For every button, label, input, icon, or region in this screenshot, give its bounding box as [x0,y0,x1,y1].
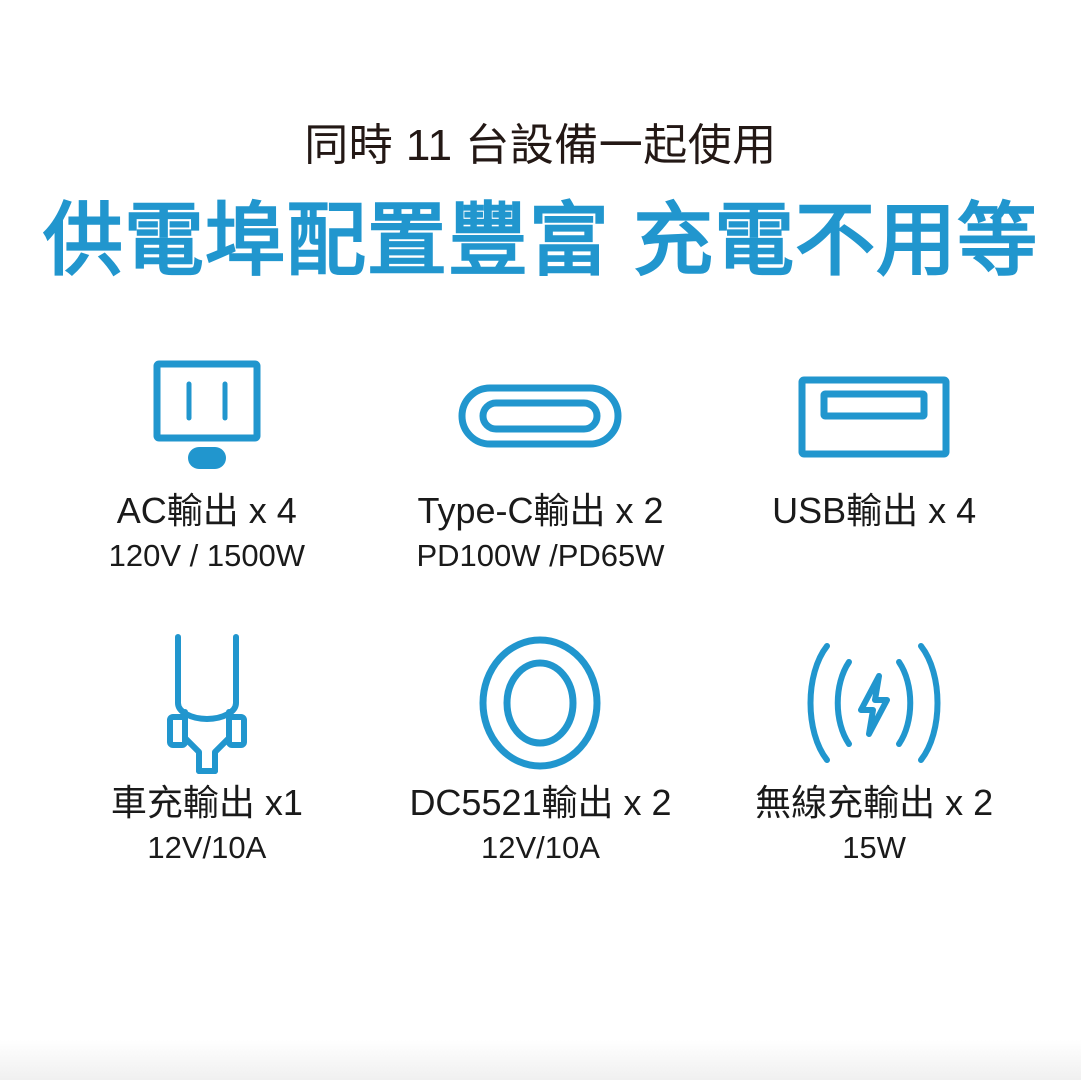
port-card-usb: USB輸出 x 4 [707,352,1041,628]
bottom-gradient-divider [0,1040,1081,1080]
usb-a-icon [794,352,954,480]
ac-outlet-icon [141,352,273,480]
car-charger-icon [147,628,267,778]
port-card-dc5521: DC5521輸出 x 2 12V/10A [374,628,708,904]
port-grid: AC輸出 x 4 120V / 1500W Type-C輸出 x 2 PD100… [40,352,1041,904]
port-card-ac: AC輸出 x 4 120V / 1500W [40,352,374,628]
port-spec: PD100W /PD65W [416,537,664,574]
port-card-wireless: 無線充輸出 x 2 15W [707,628,1041,904]
port-spec: 120V / 1500W [109,537,305,574]
dc5521-barrel-icon [475,628,605,778]
port-card-typec: Type-C輸出 x 2 PD100W /PD65W [374,352,708,628]
port-title: USB輸出 x 4 [772,490,976,532]
port-configuration-infographic: 同時 11 台設備一起使用 供電埠配置豐富 充電不用等 AC輸出 x 4 120… [0,0,1081,1080]
subtitle-text: 同時 11 台設備一起使用 [0,118,1081,173]
port-title: 車充輸出 x1 [111,782,303,824]
port-card-car: 車充輸出 x1 12V/10A [40,628,374,904]
port-spec: 12V/10A [147,829,266,866]
wireless-charging-icon [799,628,949,778]
port-spec: 12V/10A [481,829,600,866]
usb-type-c-icon [456,352,624,480]
headline-text: 供電埠配置豐富 充電不用等 [0,192,1081,290]
port-title: AC輸出 x 4 [117,490,297,532]
port-title: DC5521輸出 x 2 [409,782,671,824]
port-title: Type-C輸出 x 2 [417,490,663,532]
port-title: 無線充輸出 x 2 [755,782,993,824]
port-spec: 15W [842,829,906,866]
